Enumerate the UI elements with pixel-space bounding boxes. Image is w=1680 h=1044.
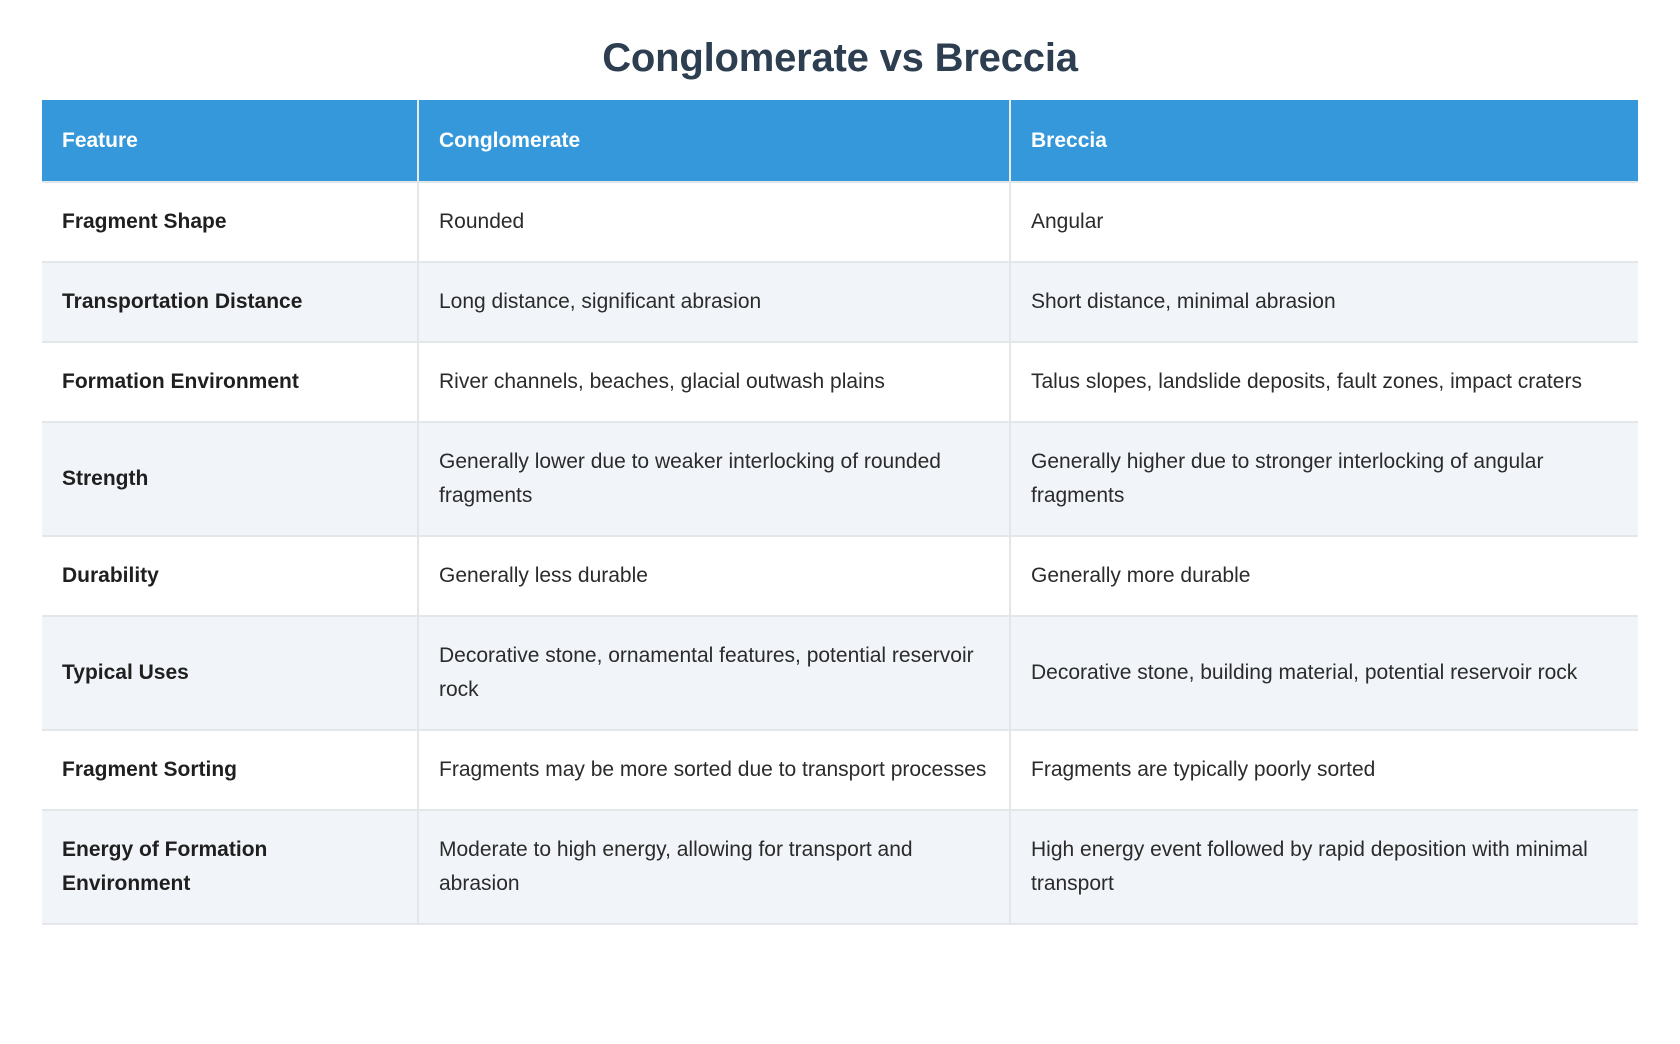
cell-feature: Fragment Sorting [42, 730, 418, 810]
cell-breccia: Fragments are typically poorly sorted [1010, 730, 1638, 810]
cell-conglomerate: Generally less durable [418, 536, 1010, 616]
cell-conglomerate: Decorative stone, ornamental features, p… [418, 616, 1010, 730]
table-row: Transportation Distance Long distance, s… [42, 262, 1638, 342]
cell-conglomerate: Fragments may be more sorted due to tran… [418, 730, 1010, 810]
table-row: Energy of Formation Environment Moderate… [42, 810, 1638, 924]
table-header: Feature Conglomerate Breccia [42, 100, 1638, 182]
table-row: Durability Generally less durable Genera… [42, 536, 1638, 616]
cell-conglomerate: River channels, beaches, glacial outwash… [418, 342, 1010, 422]
comparison-page: Conglomerate vs Breccia Feature Conglome… [0, 0, 1680, 1044]
cell-breccia: Talus slopes, landslide deposits, fault … [1010, 342, 1638, 422]
cell-feature: Fragment Shape [42, 182, 418, 262]
table-row: Formation Environment River channels, be… [42, 342, 1638, 422]
cell-breccia: Decorative stone, building material, pot… [1010, 616, 1638, 730]
cell-feature: Typical Uses [42, 616, 418, 730]
cell-breccia: High energy event followed by rapid depo… [1010, 810, 1638, 924]
table-header-row: Feature Conglomerate Breccia [42, 100, 1638, 182]
table-row: Fragment Shape Rounded Angular [42, 182, 1638, 262]
column-header-breccia: Breccia [1010, 100, 1638, 182]
cell-conglomerate: Moderate to high energy, allowing for tr… [418, 810, 1010, 924]
table-row: Typical Uses Decorative stone, ornamenta… [42, 616, 1638, 730]
comparison-table: Feature Conglomerate Breccia Fragment Sh… [42, 100, 1638, 925]
cell-feature: Formation Environment [42, 342, 418, 422]
cell-breccia: Angular [1010, 182, 1638, 262]
cell-breccia: Generally more durable [1010, 536, 1638, 616]
page-title: Conglomerate vs Breccia [0, 0, 1680, 84]
cell-feature: Transportation Distance [42, 262, 418, 342]
comparison-table-container: Feature Conglomerate Breccia Fragment Sh… [42, 100, 1638, 925]
cell-conglomerate: Rounded [418, 182, 1010, 262]
table-row: Strength Generally lower due to weaker i… [42, 422, 1638, 536]
column-header-conglomerate: Conglomerate [418, 100, 1010, 182]
cell-feature: Strength [42, 422, 418, 536]
table-row: Fragment Sorting Fragments may be more s… [42, 730, 1638, 810]
column-header-feature: Feature [42, 100, 418, 182]
cell-feature: Energy of Formation Environment [42, 810, 418, 924]
cell-breccia: Generally higher due to stronger interlo… [1010, 422, 1638, 536]
cell-feature: Durability [42, 536, 418, 616]
cell-conglomerate: Long distance, significant abrasion [418, 262, 1010, 342]
cell-breccia: Short distance, minimal abrasion [1010, 262, 1638, 342]
cell-conglomerate: Generally lower due to weaker interlocki… [418, 422, 1010, 536]
table-body: Fragment Shape Rounded Angular Transport… [42, 182, 1638, 924]
